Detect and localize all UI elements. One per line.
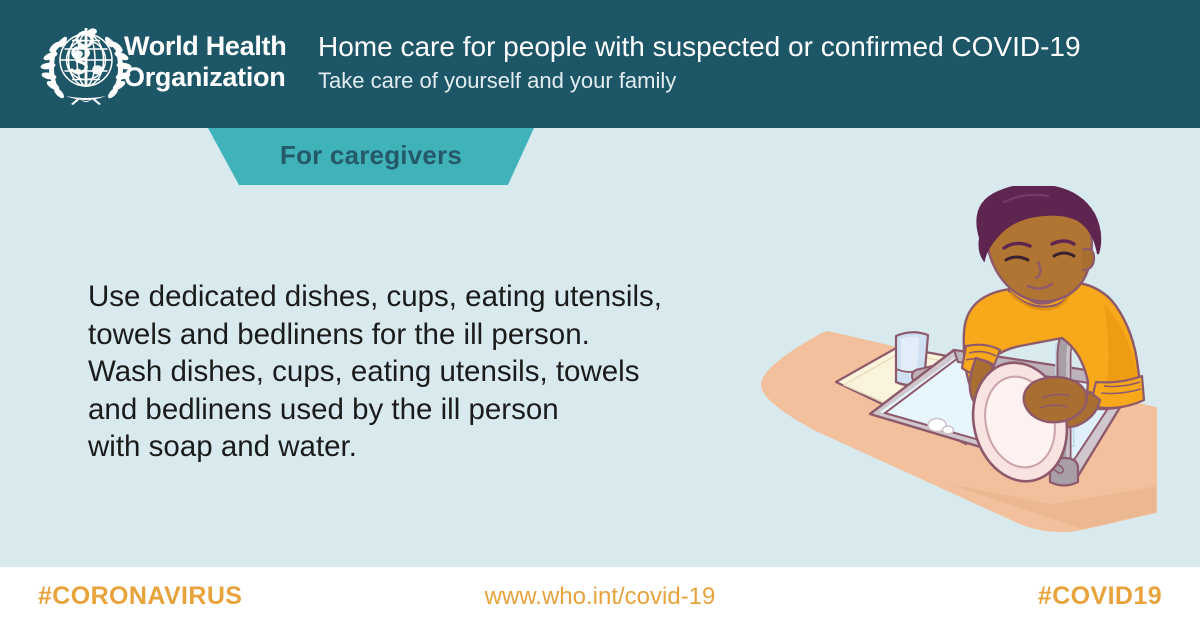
who-covid-url[interactable]: www.who.int/covid-19 bbox=[0, 583, 1200, 611]
header-bar: World Health Organization Home care for … bbox=[0, 0, 1200, 128]
advice-line-2: towels and bedlinens for the ill person. bbox=[88, 316, 768, 354]
hashtag-covid19: #COVID19 bbox=[1038, 582, 1162, 611]
advice-text: Use dedicated dishes, cups, eating utens… bbox=[88, 278, 768, 466]
advice-line-4: and bedlinens used by the ill person bbox=[88, 391, 768, 429]
footer-bar: #CORONAVIRUS www.who.int/covid-19 #COVID… bbox=[0, 567, 1200, 628]
person-washing-dishes-illustration bbox=[752, 186, 1200, 538]
page-title: Home care for people with suspected or c… bbox=[318, 30, 1081, 64]
audience-banner: For caregivers bbox=[208, 128, 534, 185]
advice-line-1: Use dedicated dishes, cups, eating utens… bbox=[88, 278, 768, 316]
who-wordmark-line2: Organization bbox=[124, 62, 286, 93]
who-wordmark: World Health Organization bbox=[124, 31, 286, 93]
who-covid19-infographic: World Health Organization Home care for … bbox=[0, 0, 1200, 628]
header-title-group: Home care for people with suspected or c… bbox=[318, 30, 1081, 95]
audience-banner-label: For caregivers bbox=[208, 128, 534, 185]
right-hand bbox=[1024, 377, 1087, 422]
advice-line-5: with soap and water. bbox=[88, 428, 768, 466]
head bbox=[977, 186, 1100, 301]
advice-line-3: Wash dishes, cups, eating utensils, towe… bbox=[88, 353, 768, 391]
page-subtitle: Take care of yourself and your family bbox=[318, 67, 1081, 95]
who-wordmark-line1: World Health bbox=[124, 31, 286, 62]
